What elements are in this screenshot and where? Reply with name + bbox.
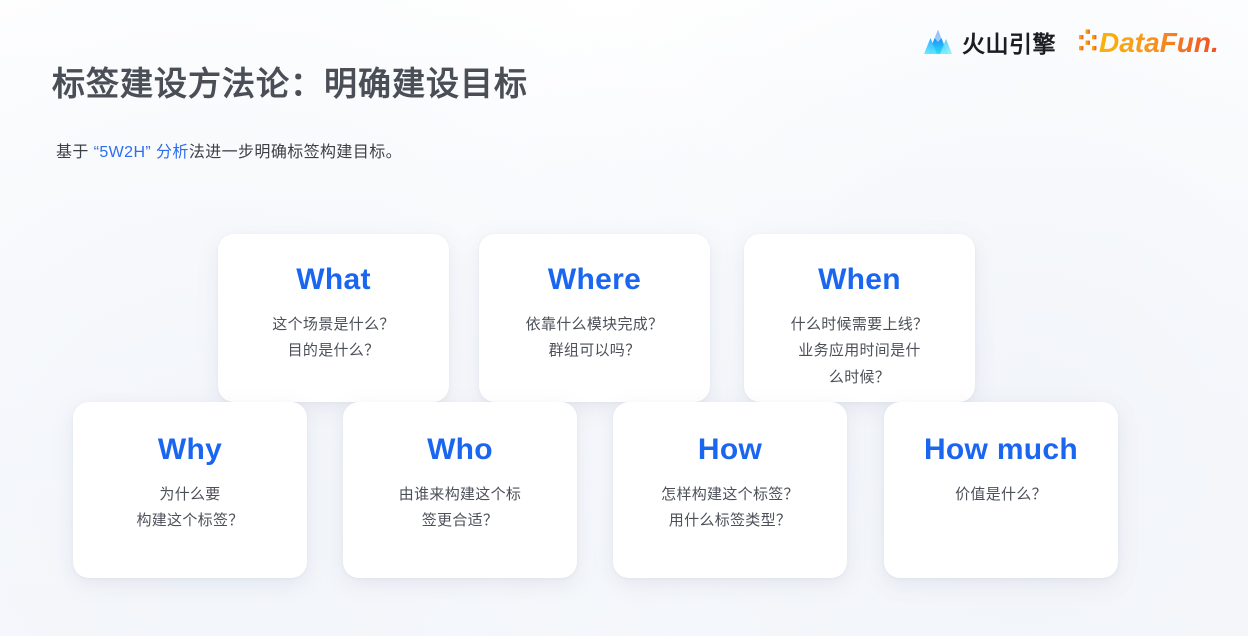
card-when-line-2: 业务应用时间是什	[744, 338, 975, 364]
card-how-lines: 怎样构建这个标签？ 用什么标签类型？	[613, 482, 847, 535]
volcano-engine-logo: 火山引擎	[923, 25, 1056, 59]
datafun-wordmark: DataFun.	[1099, 27, 1219, 58]
card-how-much-lines: 价值是什么？	[884, 482, 1118, 508]
card-who-title: Who	[343, 432, 577, 468]
card-when-line-1: 什么时候需要上线？	[744, 312, 975, 338]
page-title: 标签建设方法论：明确建设目标	[52, 57, 528, 105]
brand-logos: 火山引擎 DataFu	[923, 24, 1226, 60]
card-what-lines: 这个场景是什么？ 目的是什么？	[218, 312, 449, 365]
card-who-line-2: 签更合适？	[343, 508, 577, 534]
card-how-much-line-1: 价值是什么？	[884, 482, 1118, 508]
card-where-lines: 依靠什么模块完成？ 群组可以吗？	[479, 312, 710, 365]
card-why-lines: 为什么要 构建这个标签？	[73, 482, 307, 535]
slide-root: 火山引擎 DataFu	[0, 0, 1248, 636]
card-how-line-1: 怎样构建这个标签？	[613, 482, 847, 508]
volcano-engine-label: 火山引擎	[962, 25, 1056, 59]
card-where[interactable]: Where 依靠什么模块完成？ 群组可以吗？	[479, 234, 710, 402]
card-who[interactable]: Who 由谁来构建这个标 签更合适？	[343, 402, 577, 578]
datafun-logo: DataFun.	[1078, 24, 1226, 60]
subtitle-highlight: “5W2H” 分析	[94, 144, 189, 161]
card-why-line-2: 构建这个标签？	[73, 508, 307, 534]
card-when-lines: 什么时候需要上线？ 业务应用时间是什 么时候？	[744, 312, 975, 391]
card-when[interactable]: When 什么时候需要上线？ 业务应用时间是什 么时候？	[744, 234, 975, 402]
subtitle-prefix: 基于	[56, 144, 94, 161]
page-subtitle: 基于 “5W2H” 分析法进一步明确标签构建目标。	[56, 138, 402, 162]
card-who-lines: 由谁来构建这个标 签更合适？	[343, 482, 577, 535]
card-how-much[interactable]: How much 价值是什么？	[884, 402, 1118, 578]
volcano-mountain-icon	[923, 28, 953, 56]
card-where-line-2: 群组可以吗？	[479, 338, 710, 364]
card-how-much-title: How much	[884, 432, 1118, 468]
card-how-line-2: 用什么标签类型？	[613, 508, 847, 534]
card-how[interactable]: How 怎样构建这个标签？ 用什么标签类型？	[613, 402, 847, 578]
card-when-line-3: 么时候？	[744, 365, 975, 391]
card-what-line-1: 这个场景是什么？	[218, 312, 449, 338]
card-what-line-2: 目的是什么？	[218, 338, 449, 364]
card-why-title: Why	[73, 432, 307, 468]
subtitle-suffix: 法进一步明确标签构建目标。	[189, 144, 402, 161]
card-why-line-1: 为什么要	[73, 482, 307, 508]
card-who-line-1: 由谁来构建这个标	[343, 482, 577, 508]
card-where-line-1: 依靠什么模块完成？	[479, 312, 710, 338]
card-what[interactable]: What 这个场景是什么？ 目的是什么？	[218, 234, 449, 402]
card-when-title: When	[744, 262, 975, 298]
card-where-title: Where	[479, 262, 710, 298]
card-what-title: What	[218, 262, 449, 298]
datafun-dots-icon	[1079, 30, 1096, 51]
card-why[interactable]: Why 为什么要 构建这个标签？	[73, 402, 307, 578]
card-how-title: How	[613, 432, 847, 468]
